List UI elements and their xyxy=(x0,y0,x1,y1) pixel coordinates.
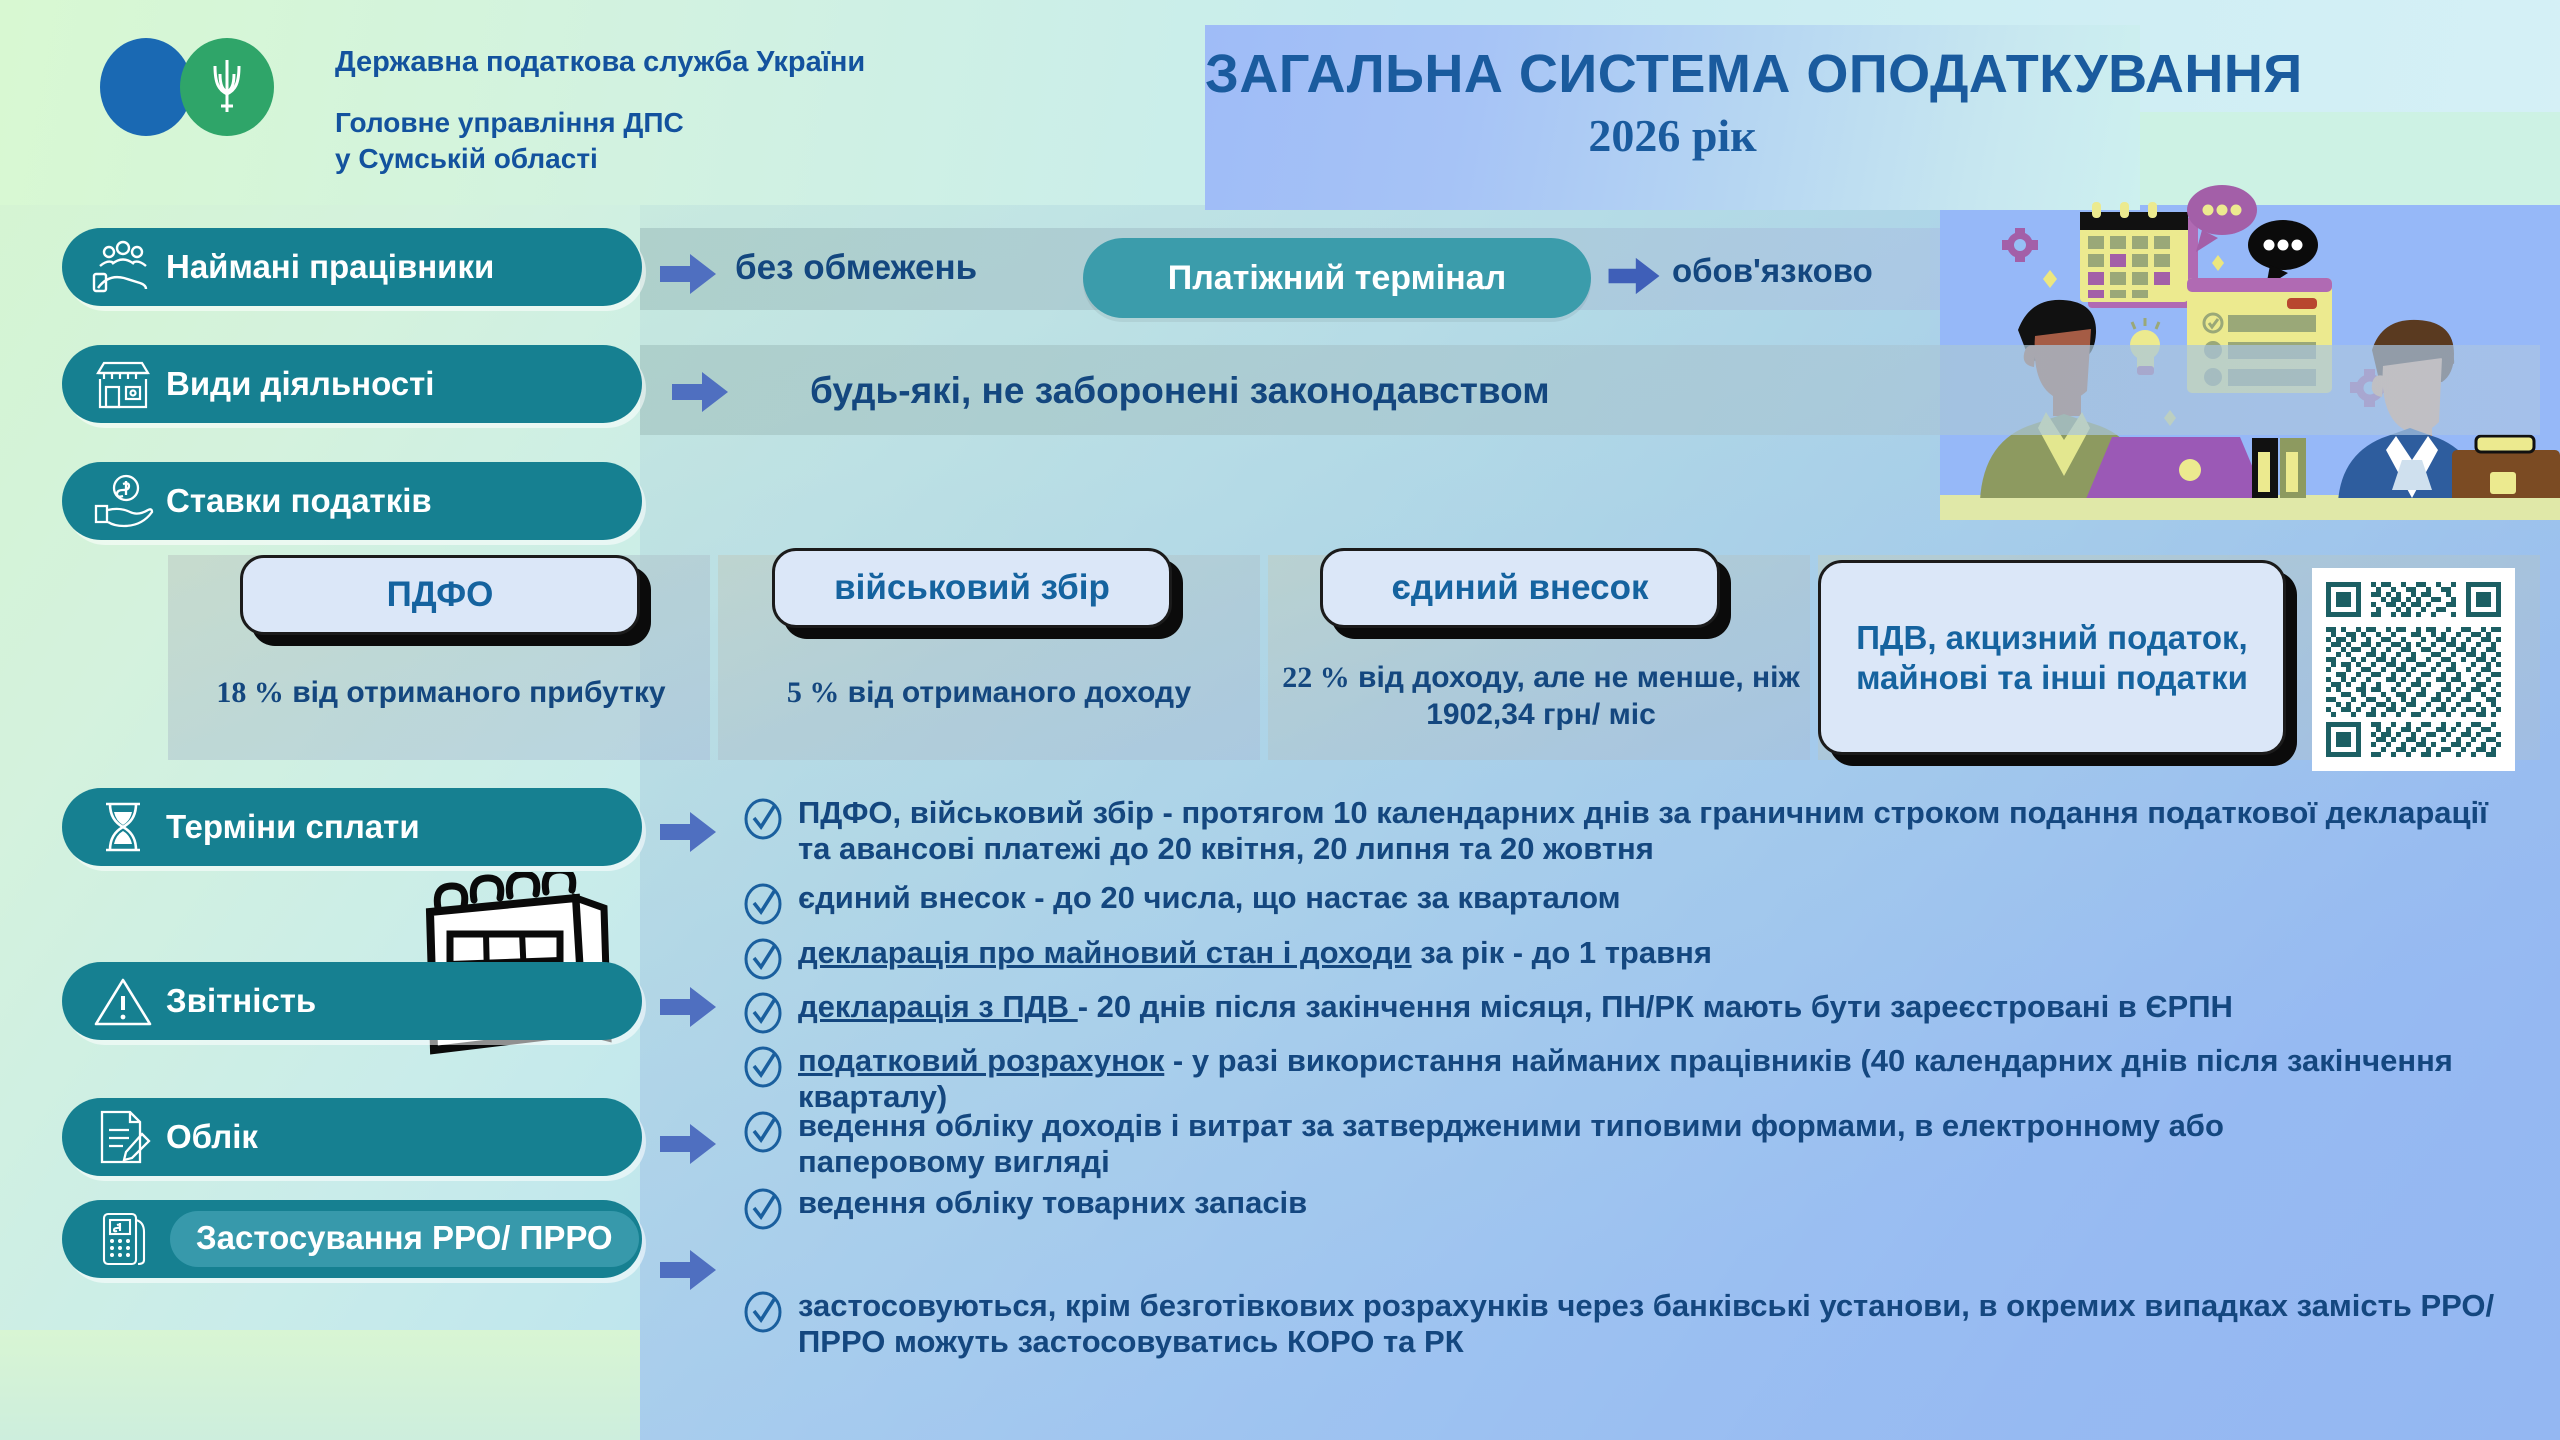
org-name-line3-text: у Сумській області xyxy=(335,141,1055,177)
row-label-reporting: Звітність xyxy=(62,962,642,1040)
infographic-poster: Державна податкова служба України Головн… xyxy=(0,0,2560,1440)
org-name-line2-text: Головне управління ДПС xyxy=(335,105,1055,141)
deadlines-item-2: єдиний внесок - до 20 числа, що настає з… xyxy=(798,880,2518,916)
check-circle-icon xyxy=(740,1290,786,1334)
tax-desc-military-num: 5 % xyxy=(787,676,840,709)
row-label-rates: Ставки податків xyxy=(62,462,642,540)
tax-desc-pdfo-rest: від отриманого прибутку xyxy=(284,676,666,709)
deadlines-item-1: ПДФО, військовий збір - протягом 10 кале… xyxy=(798,795,2518,868)
reporting-item-2-underline: декларація з ПДВ xyxy=(798,989,1078,1024)
reporting-item-1: декларація про майновий стан і доходи за… xyxy=(798,935,2518,971)
logo-green-tryzub-icon xyxy=(180,38,274,136)
check-circle-icon xyxy=(740,1045,786,1089)
list-item: єдиний внесок - до 20 числа, що настає з… xyxy=(740,880,2530,926)
row-label-accounting: Облік xyxy=(62,1098,642,1176)
tax-desc-esv: 22 % від доходу, але не менше, ніж 1902,… xyxy=(1268,660,1814,733)
tax-card-esv-text: єдиний внесок xyxy=(1392,568,1649,608)
arrow-reporting-icon xyxy=(660,985,716,1029)
reporting-item-3-underline: податковий розрахунок xyxy=(798,1043,1164,1078)
tax-desc-military: 5 % від отриманого доходу xyxy=(716,675,1262,712)
payment-terminal-chip-text: Платіжний термінал xyxy=(1168,259,1506,298)
arrow-accounting-icon xyxy=(660,1122,716,1166)
row-label-rro-text: Застосування РРО/ ПРРО xyxy=(196,1219,613,1256)
list-item: ведення обліку доходів і витрат за затве… xyxy=(740,1108,2530,1181)
tax-card-pdfo: ПДФО xyxy=(240,555,640,635)
reporting-item-1-underline: декларація про майновий стан і доходи xyxy=(798,935,1412,970)
list-item: ведення обліку товарних запасів xyxy=(740,1185,2530,1231)
tax-desc-esv-num: 22 % xyxy=(1282,661,1350,694)
hand-coin-icon xyxy=(90,472,156,530)
document-pen-icon xyxy=(90,1108,156,1166)
hourglass-icon xyxy=(90,798,156,856)
tax-card-other: ПДВ, акцизний податок, майнові та інші п… xyxy=(1818,560,2286,755)
warning-triangle-icon xyxy=(90,972,156,1030)
row-label-employees: Наймані працівники xyxy=(62,228,642,306)
row-label-deadlines: Терміни сплати xyxy=(62,788,642,866)
row-label-accounting-text: Облік xyxy=(166,1118,258,1156)
row-label-rates-text: Ставки податків xyxy=(166,482,432,520)
reporting-list: декларація про майновий стан і доходи за… xyxy=(740,935,2530,1118)
office-illustration xyxy=(1940,150,2560,520)
arrow-deadlines-icon xyxy=(660,810,716,854)
tax-desc-esv-rest: від доходу, але не менше, ніж 1902,34 гр… xyxy=(1350,661,1800,731)
tax-desc-pdfo-num: 18 % xyxy=(216,676,284,709)
arrow-employees-icon xyxy=(660,252,716,296)
check-circle-icon xyxy=(740,882,786,926)
list-item: декларація з ПДВ - 20 днів після закінче… xyxy=(740,989,2530,1035)
employees-icon xyxy=(90,238,156,296)
check-circle-icon xyxy=(740,1187,786,1231)
tax-card-other-text: ПДВ, акцизний податок, майнові та інші п… xyxy=(1835,618,2269,697)
rro-list: застосовуються, крім безготівкових розра… xyxy=(740,1288,2530,1363)
qr-code[interactable] xyxy=(2312,568,2515,771)
arrow-terminal-icon xyxy=(1608,256,1660,296)
tax-desc-military-rest: від отриманого доходу xyxy=(839,676,1191,709)
tax-card-esv: єдиний внесок xyxy=(1320,548,1720,628)
reporting-item-3: податковий розрахунок - у разі використа… xyxy=(798,1043,2498,1116)
page-title: ЗАГАЛЬНА СИСТЕМА ОПОДАТКУВАННЯ xyxy=(1205,43,2140,105)
rro-label-inner: Застосування РРО/ ПРРО xyxy=(170,1211,639,1267)
rro-item-1: застосовуються, крім безготівкових розра… xyxy=(798,1288,2498,1361)
check-circle-icon xyxy=(740,797,786,841)
arrow-rro-icon xyxy=(660,1248,716,1292)
list-item: застосовуються, крім безготівкових розра… xyxy=(740,1288,2530,1361)
row-label-rro: Застосування РРО/ ПРРО xyxy=(62,1200,642,1278)
arrow-activities-icon xyxy=(672,370,728,414)
check-circle-icon xyxy=(740,1110,786,1154)
check-circle-icon xyxy=(740,991,786,1035)
row-label-employees-text: Наймані працівники xyxy=(166,248,494,286)
list-item: декларація про майновий стан і доходи за… xyxy=(740,935,2530,981)
row-label-activities: Види діяльності xyxy=(62,345,642,423)
accounting-item-1: ведення обліку доходів і витрат за затве… xyxy=(798,1108,2318,1181)
logo-blue-circle-icon xyxy=(100,38,192,136)
row-label-deadlines-text: Терміни сплати xyxy=(166,808,420,846)
org-name-line1: Державна податкова служба України xyxy=(335,48,1055,77)
dps-logo xyxy=(100,38,290,136)
reporting-item-2: декларація з ПДВ - 20 днів після закінче… xyxy=(798,989,2518,1025)
tax-card-military: військовий збір xyxy=(772,548,1172,628)
tax-card-military-text: військовий збір xyxy=(834,568,1110,608)
reporting-item-2-rest: - 20 днів після закінчення місяця, ПН/РК… xyxy=(1078,989,2233,1024)
payment-terminal-chip: Платіжний термінал xyxy=(1083,238,1591,318)
bottom-wash xyxy=(0,1330,640,1440)
accounting-list: ведення обліку доходів і витрат за затве… xyxy=(740,1108,2530,1233)
reporting-item-1-rest: за рік - до 1 травня xyxy=(1412,935,1712,970)
activities-value: будь-які, не заборонені законодавством xyxy=(810,370,1550,412)
list-item: податковий розрахунок - у разі використа… xyxy=(740,1043,2530,1116)
accounting-item-2: ведення обліку товарних запасів xyxy=(798,1185,2318,1221)
tax-card-pdfo-text: ПДФО xyxy=(387,575,494,615)
shop-icon xyxy=(90,355,156,413)
terminal-value: обов'язково xyxy=(1672,252,1873,290)
employees-value: без обмежень xyxy=(735,248,977,288)
tax-desc-pdfo: 18 % від отриманого прибутку xyxy=(168,675,714,712)
row-label-activities-text: Види діяльності xyxy=(166,365,434,403)
check-circle-icon xyxy=(740,937,786,981)
org-name-line2: Головне управління ДПС у Сумській област… xyxy=(335,105,1055,177)
row-label-reporting-text: Звітність xyxy=(166,982,316,1020)
list-item: ПДФО, військовий збір - протягом 10 кале… xyxy=(740,795,2530,868)
pos-terminal-icon xyxy=(90,1210,156,1268)
deadlines-list: ПДФО, військовий збір - протягом 10 кале… xyxy=(740,795,2530,928)
